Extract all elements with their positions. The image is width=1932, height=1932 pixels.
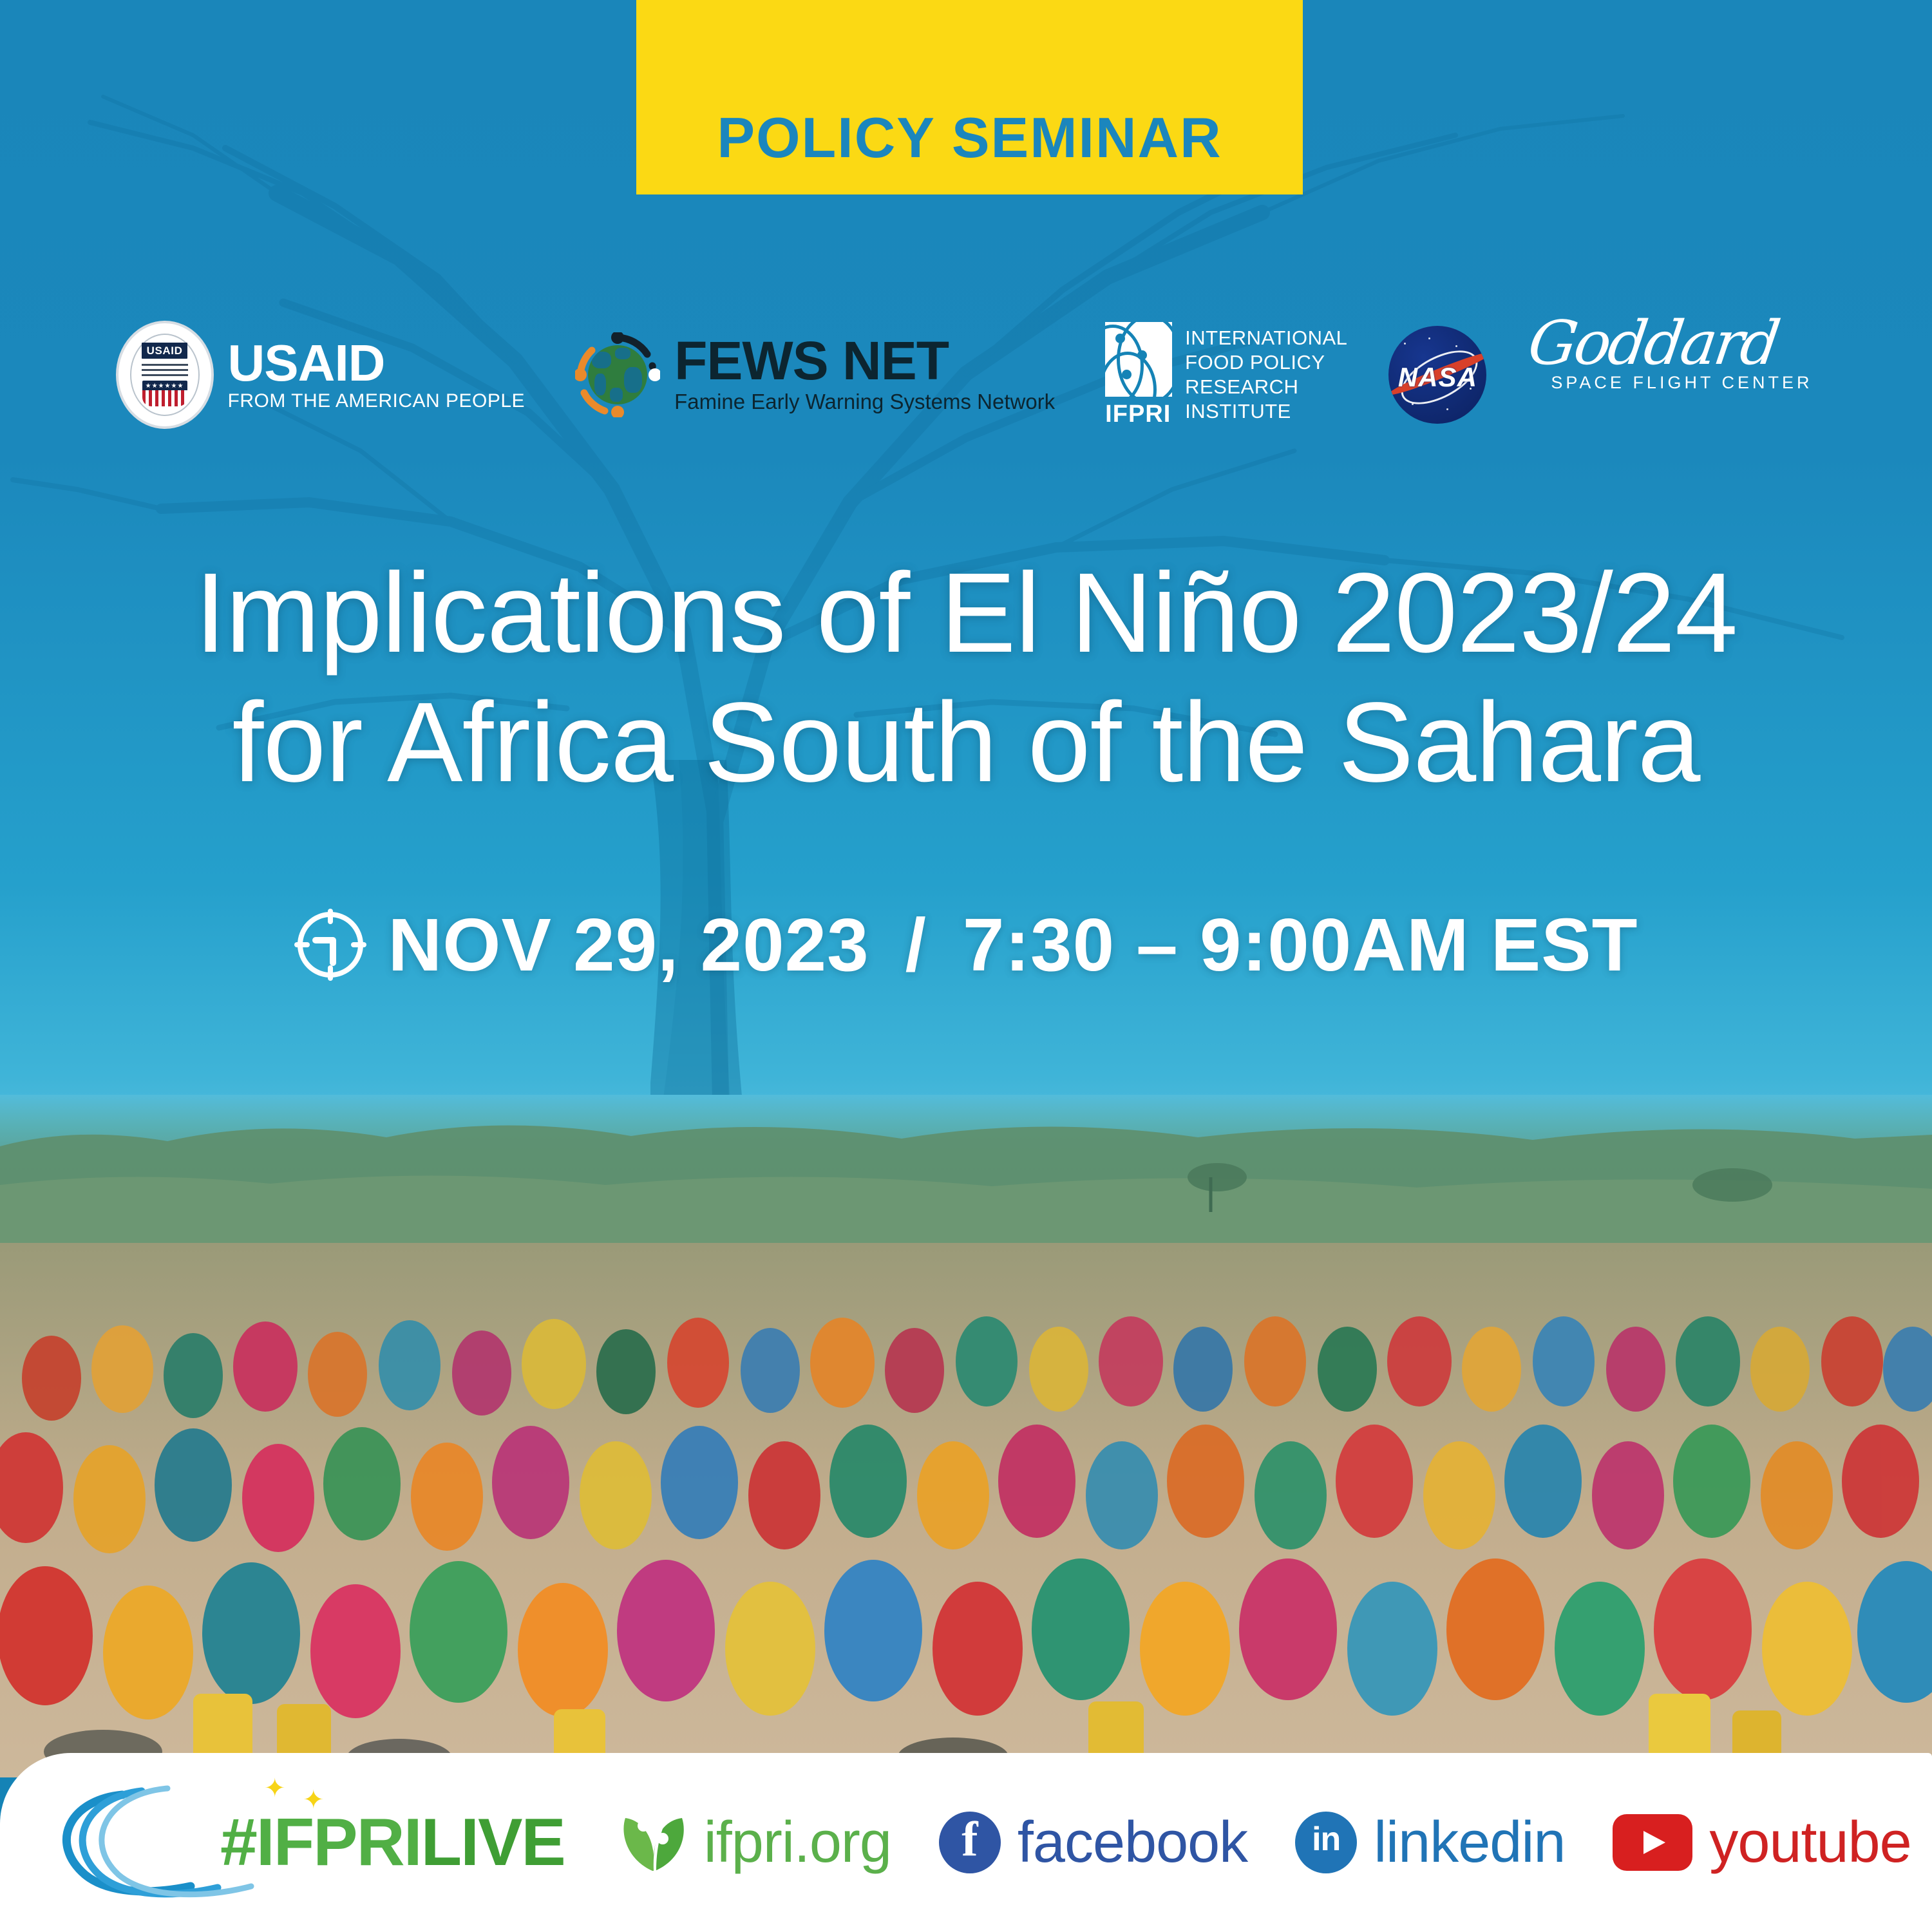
banner-label: POLICY SEMINAR bbox=[717, 109, 1222, 166]
datetime-separator: / bbox=[891, 902, 941, 988]
partner-logo-row: USAID ★★★★★★ USAID FROM THE AMERICAN PEO… bbox=[0, 310, 1932, 439]
facebook-icon bbox=[939, 1812, 1001, 1873]
clock-icon bbox=[294, 909, 366, 981]
seminar-title: Implications of El Niño 2023/24 for Afri… bbox=[0, 549, 1932, 807]
linkedin-icon bbox=[1295, 1812, 1357, 1873]
ifpri-name-line-4: INSTITUTE bbox=[1185, 399, 1347, 424]
ifpri-name-line-3: RESEARCH bbox=[1185, 375, 1347, 399]
background-crowd bbox=[0, 1243, 1932, 1777]
social-link-linkedin[interactable]: linkedin bbox=[1295, 1812, 1565, 1873]
nasa-wordmark: NASA bbox=[1388, 362, 1486, 393]
footer-bar: #IFPRILIVE ✦ ✦ ifpri.org facebook linked… bbox=[0, 1753, 1932, 1932]
usaid-tagline: FROM THE AMERICAN PEOPLE bbox=[228, 390, 526, 412]
usaid-wordmark: USAID bbox=[228, 339, 526, 388]
fews-net-tagline: Famine Early Warning Systems Network bbox=[674, 389, 1055, 415]
event-poster: POLICY SEMINAR USAID ★★★★★★ USAID FROM T… bbox=[0, 0, 1932, 1932]
ifpri-logo: IFPRI INTERNATIONAL FOOD POLICY RESEARCH… bbox=[1105, 317, 1347, 433]
ifpri-live-suffix: LIVE bbox=[421, 1805, 565, 1880]
usaid-logo: USAID ★★★★★★ USAID FROM THE AMERICAN PEO… bbox=[116, 317, 526, 433]
ifpri-name-line-1: INTERNATIONAL bbox=[1185, 326, 1347, 350]
nasa-meatball-icon: NASA bbox=[1388, 326, 1486, 424]
ifpri-leaf-icon bbox=[620, 1809, 687, 1876]
ifpri-live-text: #IFPRILIVE bbox=[220, 1809, 565, 1876]
usaid-seal-label: USAID bbox=[142, 343, 188, 359]
event-time: 7:30 – 9:00AM EST bbox=[963, 902, 1638, 988]
usaid-shield-icon: ★★★★★★ bbox=[142, 381, 187, 406]
social-link-youtube[interactable]: youtube bbox=[1613, 1814, 1911, 1871]
event-datetime: NOV 29, 2023 / 7:30 – 9:00AM EST bbox=[0, 902, 1932, 988]
title-line-2: for Africa South of the Sahara bbox=[0, 678, 1932, 808]
social-link-ifpri-org[interactable]: ifpri.org bbox=[620, 1809, 891, 1876]
ifpri-live-logo: #IFPRILIVE ✦ ✦ bbox=[71, 1778, 565, 1907]
youtube-label: youtube bbox=[1709, 1814, 1911, 1871]
ifpri-name-line-2: FOOD POLICY bbox=[1185, 350, 1347, 375]
goddard-wordmark: Goddard bbox=[1525, 317, 1781, 372]
policy-seminar-banner: POLICY SEMINAR bbox=[636, 0, 1303, 194]
sparkle-icon-2: ✦ bbox=[303, 1787, 325, 1813]
linkedin-label: linkedin bbox=[1374, 1814, 1565, 1871]
ifpri-live-prefix: #IFPRI bbox=[220, 1805, 421, 1880]
fews-net-logo: FEWS NET Famine Early Warning Systems Ne… bbox=[575, 317, 1055, 433]
sparkle-icon-1: ✦ bbox=[264, 1776, 286, 1801]
event-date: NOV 29, 2023 bbox=[388, 902, 869, 988]
goddard-logo: Goddard SPACE FLIGHT CENTER bbox=[1529, 317, 1812, 433]
usaid-handshake-icon bbox=[142, 361, 188, 378]
facebook-label: facebook bbox=[1018, 1814, 1247, 1871]
title-line-1: Implications of El Niño 2023/24 bbox=[0, 549, 1932, 678]
fews-globe-icon bbox=[575, 332, 660, 417]
usaid-seal-icon: USAID ★★★★★★ bbox=[116, 321, 214, 429]
nasa-logo: NASA bbox=[1388, 317, 1486, 433]
ifpri-wordmark: IFPRI bbox=[1105, 401, 1171, 428]
fews-net-wordmark: FEWS NET bbox=[674, 336, 1055, 387]
social-link-facebook[interactable]: facebook bbox=[939, 1812, 1247, 1873]
ifpri-org-label: ifpri.org bbox=[704, 1814, 891, 1871]
ifpri-mark-icon bbox=[1105, 322, 1172, 397]
youtube-icon bbox=[1613, 1814, 1692, 1871]
ifpri-full-name: INTERNATIONAL FOOD POLICY RESEARCH INSTI… bbox=[1185, 326, 1347, 423]
